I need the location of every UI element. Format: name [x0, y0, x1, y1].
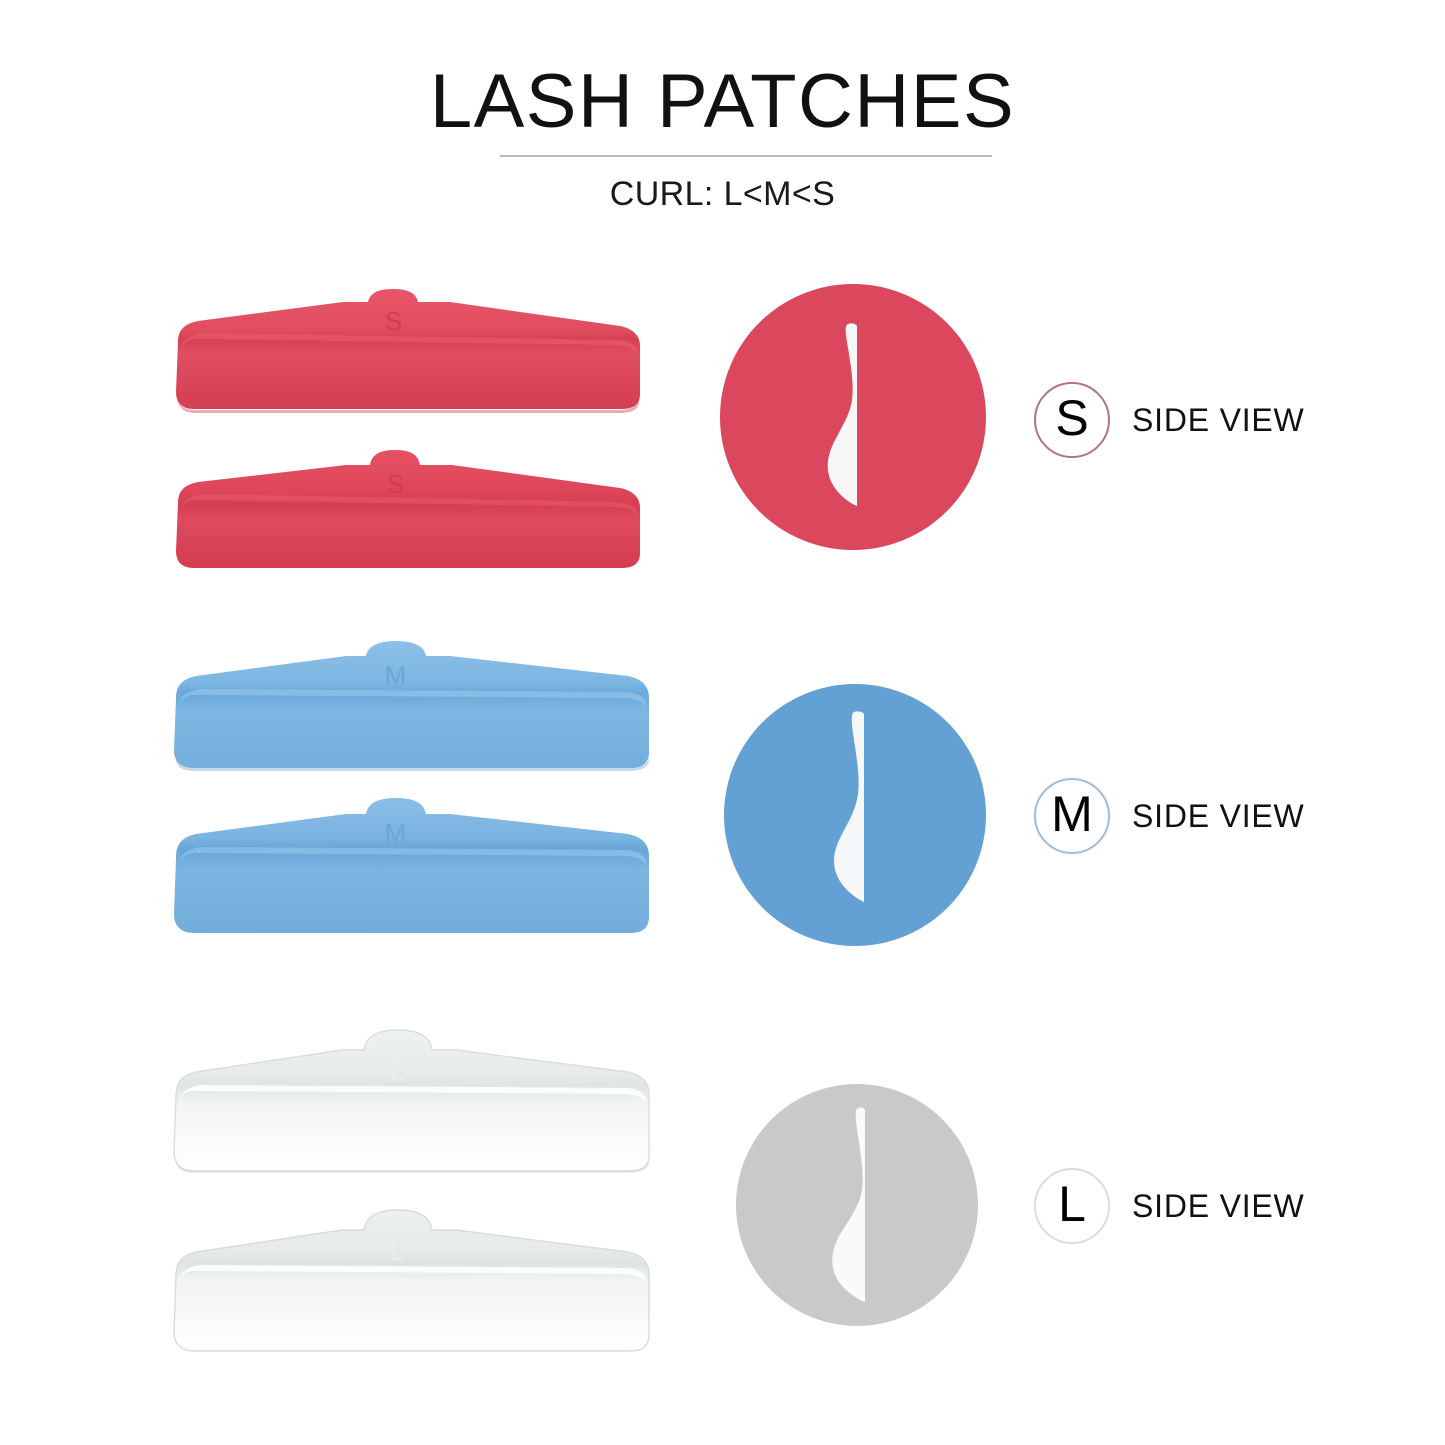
- patch-bottom-m: M: [168, 792, 658, 940]
- legend-m: M SIDE VIEW: [1034, 778, 1305, 854]
- header: LASH PATCHES CURL: L<M<S: [0, 0, 1445, 240]
- patch-top-s: S: [168, 290, 648, 420]
- side-view-label-l: SIDE VIEW: [1132, 1189, 1305, 1223]
- size-badge-m: M: [1034, 778, 1110, 854]
- page-title: LASH PATCHES: [0, 62, 1445, 142]
- size-badge-letter-l: L: [1058, 1179, 1086, 1229]
- size-badge-l: L: [1034, 1168, 1110, 1244]
- product-row-l: L L: [0, 1000, 1445, 1400]
- product-row-s: S S: [0, 250, 1445, 650]
- patch-body: [174, 798, 649, 933]
- patch-group-l: L L: [168, 1000, 668, 1400]
- legend-l: L SIDE VIEW: [1034, 1168, 1305, 1244]
- size-badge-letter-s: S: [1055, 393, 1088, 443]
- patch-bottom-s: S: [168, 445, 648, 575]
- patch-bottom-l: L: [168, 1218, 658, 1368]
- side-view-circle-s: [718, 282, 988, 552]
- patch-shape-icon: [168, 290, 648, 420]
- patch-shape-icon: [168, 1036, 658, 1186]
- title-divider: [500, 155, 992, 157]
- page-subtitle: CURL: L<M<S: [0, 174, 1445, 214]
- side-view-label-m: SIDE VIEW: [1132, 799, 1305, 833]
- size-badge-letter-m: M: [1051, 789, 1093, 839]
- side-view-label-s: SIDE VIEW: [1132, 403, 1305, 437]
- patch-group-m: M M: [168, 610, 668, 1010]
- patch-body: [176, 289, 640, 409]
- patch-group-s: S S: [168, 250, 668, 650]
- size-badge-s: S: [1034, 382, 1110, 458]
- patch-shape-icon: [168, 1218, 658, 1368]
- patch-top-l: L: [168, 1036, 658, 1186]
- legend-s: S SIDE VIEW: [1034, 382, 1305, 458]
- side-view-circle-l: [734, 1082, 1004, 1352]
- patch-shape-icon: [168, 792, 658, 940]
- patch-body: [176, 450, 640, 568]
- patch-top-m: M: [168, 648, 658, 778]
- infographic-page: LASH PATCHES CURL: L<M<S: [0, 0, 1445, 1445]
- product-row-m: M M: [0, 610, 1445, 1010]
- patch-shape-icon: [168, 648, 658, 778]
- patch-shape-icon: [168, 445, 648, 575]
- patch-body: [174, 1210, 649, 1351]
- side-view-circle-m: [722, 682, 992, 952]
- patch-body: [174, 1030, 649, 1171]
- patch-body: [174, 641, 649, 768]
